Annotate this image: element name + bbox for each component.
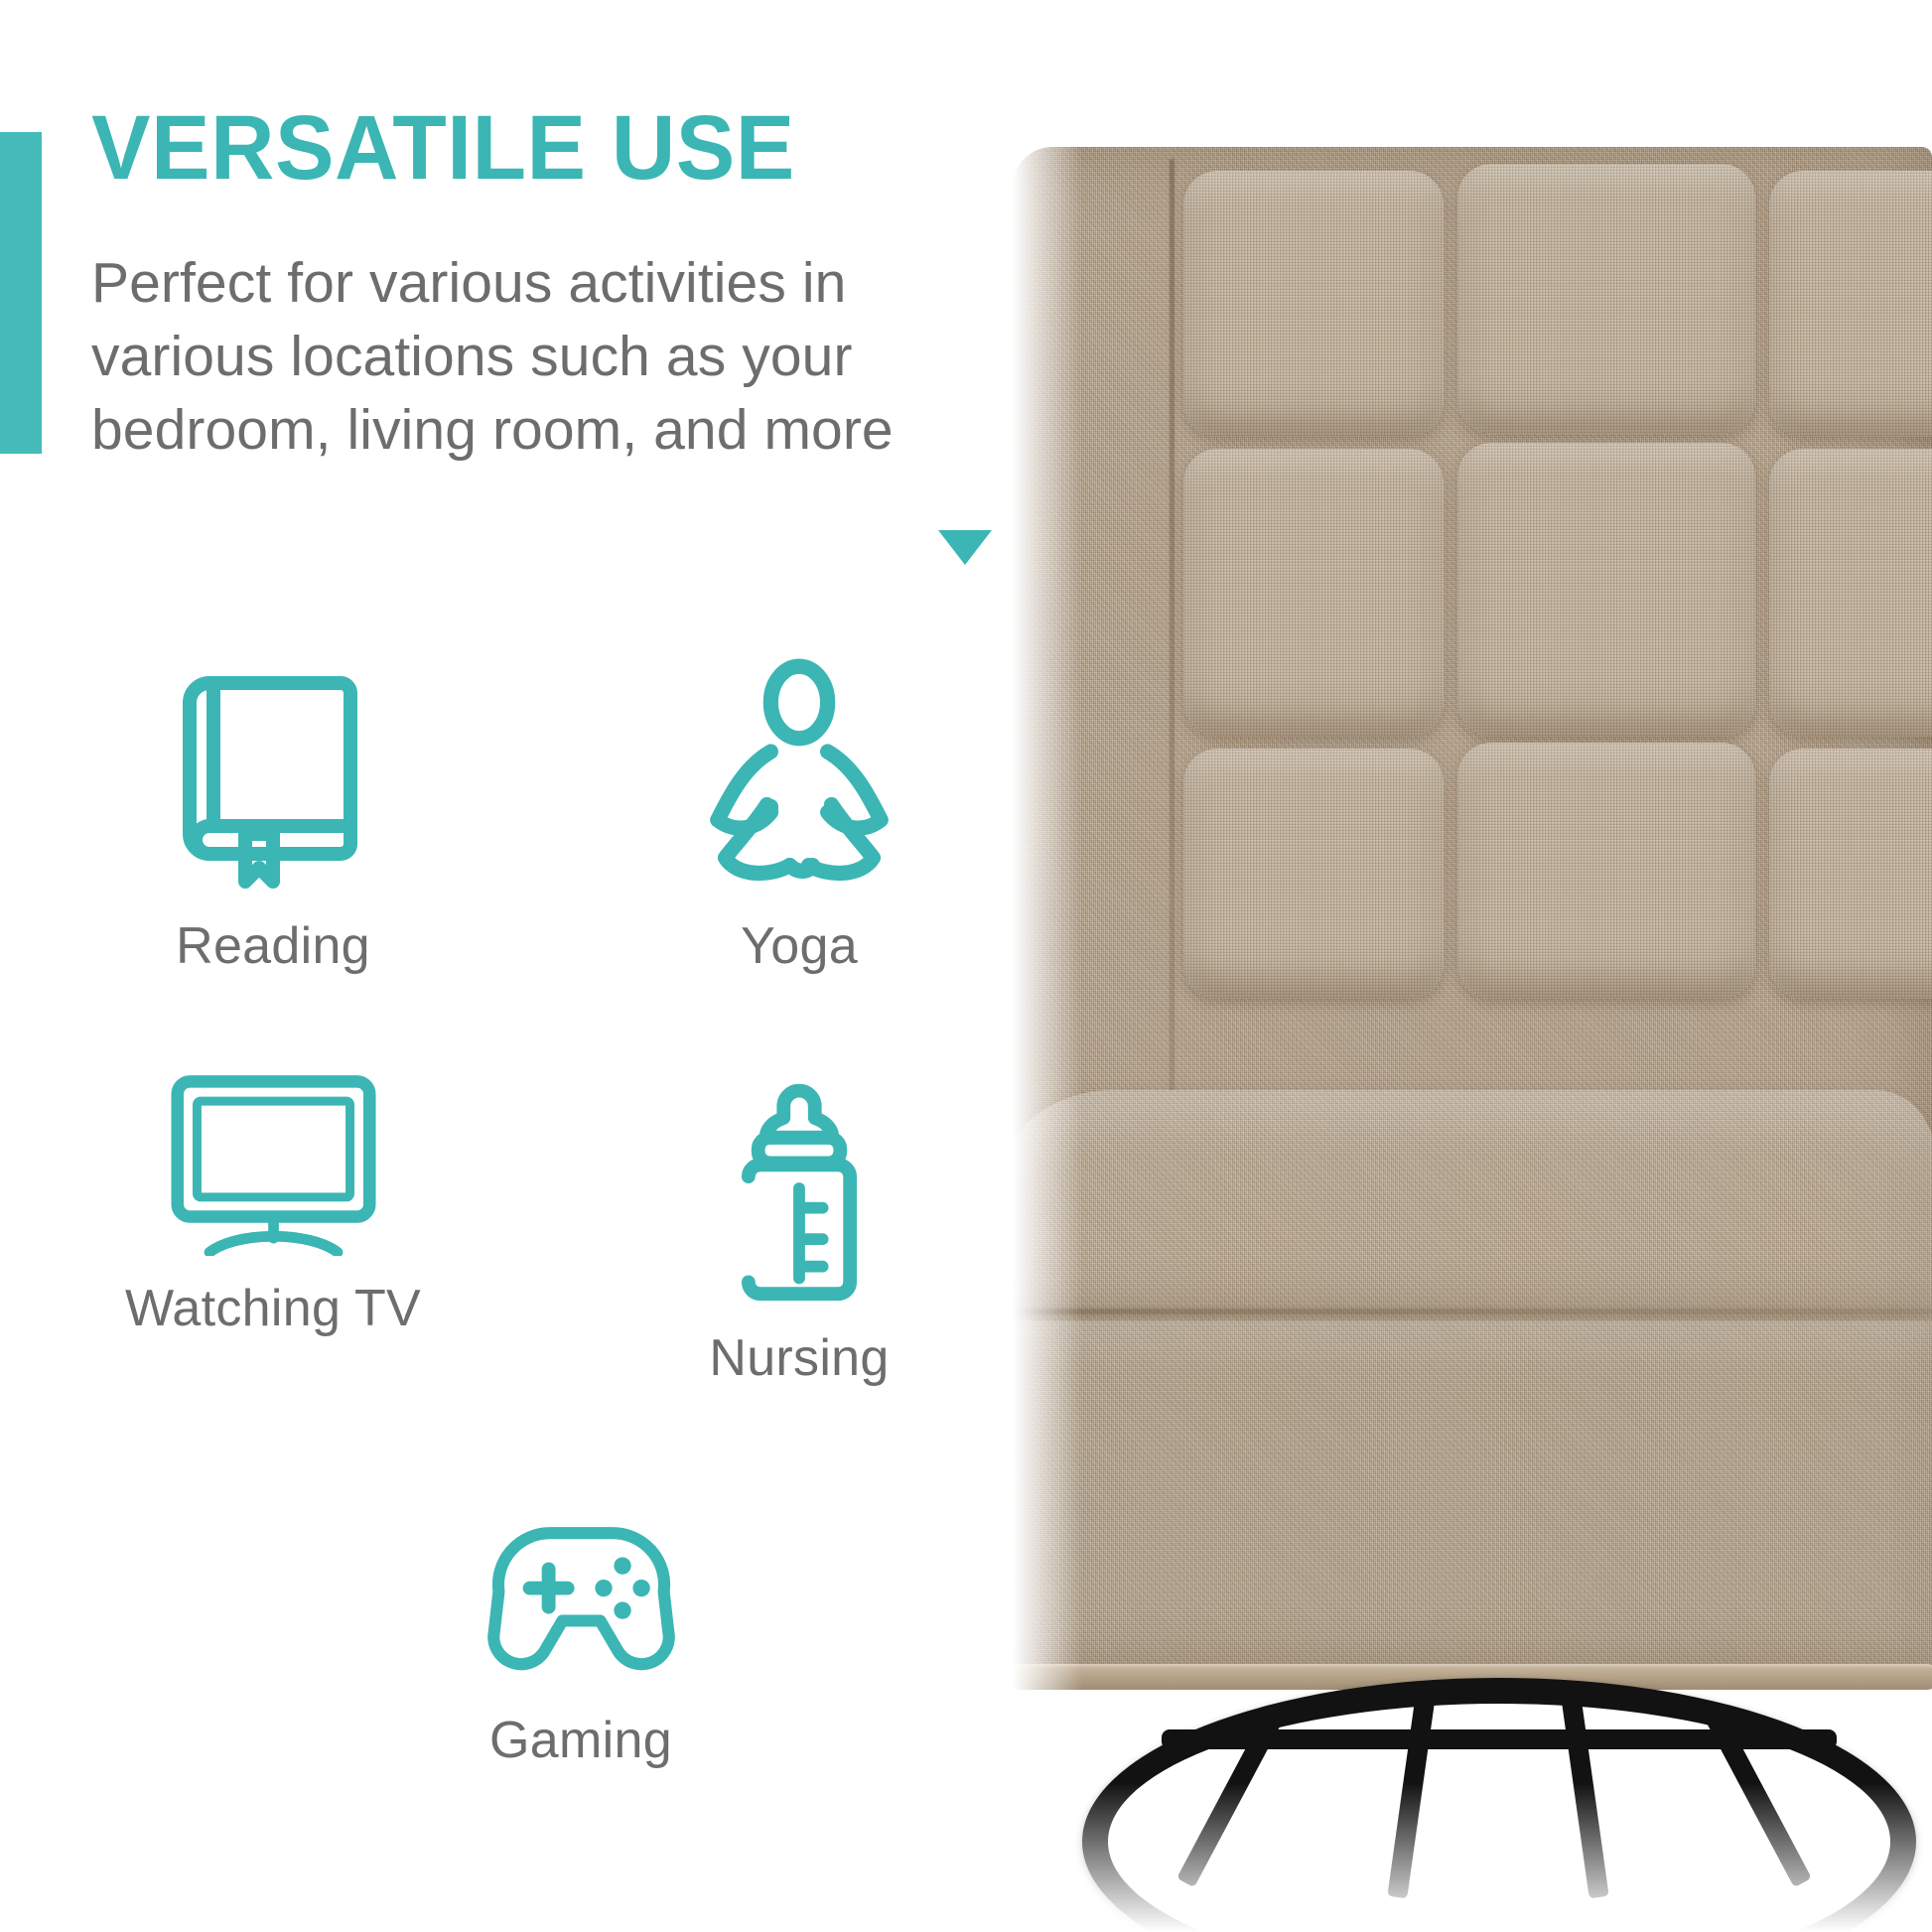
page-title: VERSATILE USE bbox=[91, 102, 1054, 196]
backrest-seam bbox=[1170, 159, 1174, 1152]
chair-seat-cushion bbox=[1013, 1090, 1932, 1343]
activity-item-gaming: Gaming bbox=[407, 1509, 755, 1770]
activity-label-yoga: Yoga bbox=[625, 916, 973, 976]
product-image-floor-chair bbox=[1013, 0, 1932, 1932]
yoga-lotus-icon bbox=[625, 655, 973, 898]
activity-item-watching-tv: Watching TV bbox=[99, 1067, 447, 1338]
tuft-panel bbox=[1183, 449, 1444, 737]
activity-label-nursing: Nursing bbox=[625, 1328, 973, 1388]
activity-label-gaming: Gaming bbox=[407, 1711, 755, 1770]
tuft-panel bbox=[1769, 171, 1932, 437]
activity-item-reading: Reading bbox=[99, 655, 447, 976]
tuft-panel bbox=[1183, 749, 1444, 999]
accent-bar bbox=[0, 132, 42, 454]
baby-bottle-icon bbox=[625, 1067, 973, 1311]
activity-item-yoga: Yoga bbox=[625, 655, 973, 976]
triangle-down-icon bbox=[938, 530, 992, 565]
tuft-panel bbox=[1769, 449, 1932, 737]
tuft-panel bbox=[1769, 749, 1932, 999]
tuft-panel bbox=[1183, 171, 1444, 437]
page-description: Perfect for various activities in variou… bbox=[91, 246, 965, 467]
photo-edge-fade bbox=[1013, 0, 1932, 149]
chair-base-cushion bbox=[1013, 1320, 1932, 1690]
seat-cushion-seam bbox=[1013, 1309, 1932, 1314]
tuft-panel bbox=[1457, 443, 1755, 737]
tuft-panel bbox=[1457, 164, 1755, 434]
activity-label-watching-tv: Watching TV bbox=[99, 1279, 447, 1338]
activity-label-reading: Reading bbox=[99, 916, 447, 976]
game-controller-icon bbox=[407, 1509, 755, 1693]
activity-item-nursing: Nursing bbox=[625, 1067, 973, 1388]
infographic-panel: VERSATILE USE Perfect for various activi… bbox=[0, 0, 1932, 1932]
tuft-panel bbox=[1457, 743, 1755, 999]
swivel-base-ring bbox=[1082, 1678, 1916, 1932]
swivel-base-crossbar bbox=[1162, 1729, 1837, 1749]
television-icon bbox=[99, 1067, 447, 1261]
book-icon bbox=[99, 655, 447, 898]
